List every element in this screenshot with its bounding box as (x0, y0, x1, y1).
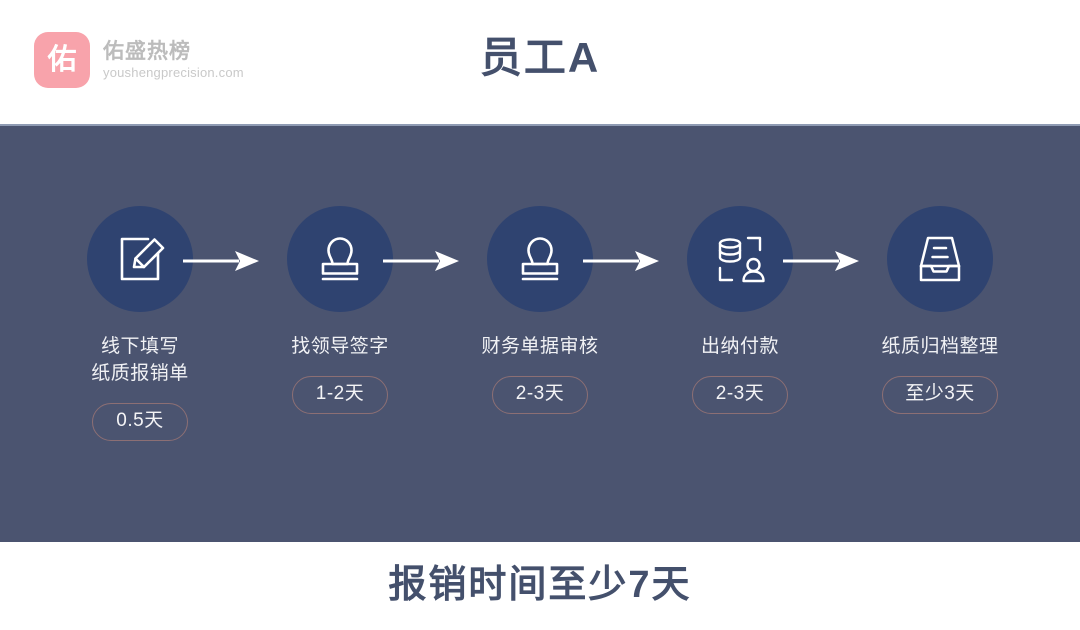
process-steps-row: 线下填写 纸质报销单 0.5天 (0, 126, 1080, 544)
summary-text: 报销时间至少7天 (388, 563, 691, 609)
flow-step-3: 财务单据审核 2-3天 (440, 206, 640, 414)
flow-step-4-duration-badge: 2-3天 (692, 376, 788, 414)
flow-step-3-duration-badge: 2-3天 (492, 376, 588, 414)
flow-step-1: 线下填写 纸质报销单 0.5天 (40, 206, 240, 441)
page-header: 佑 佑盛热榜 youshengprecision.com 员工A (0, 0, 1080, 124)
page-footer: 报销时间至少7天 (0, 542, 1080, 630)
process-flow-panel: 线下填写 纸质报销单 0.5天 (0, 124, 1080, 542)
flow-step-2: 找领导签字 1-2天 (240, 206, 440, 414)
flow-step-1-duration-badge: 0.5天 (92, 403, 188, 441)
cash-payment-person-icon (713, 232, 767, 286)
flow-step-1-label: 线下填写 纸质报销单 (91, 334, 189, 388)
flow-step-5-duration-badge: 至少3天 (882, 376, 998, 414)
flow-step-2-label: 找领导签字 (291, 334, 389, 361)
archive-tray-icon (913, 232, 967, 286)
flow-step-4-icon-circle (687, 206, 793, 312)
flow-step-1-icon-circle (87, 206, 193, 312)
flow-step-4: 出纳付款 2-3天 (640, 206, 840, 414)
flow-step-2-icon-circle (287, 206, 393, 312)
flow-step-3-label: 财务单据审核 (481, 334, 598, 361)
stamp-icon (314, 233, 366, 285)
stamp-icon (514, 233, 566, 285)
flow-step-4-label: 出纳付款 (701, 334, 779, 361)
flow-step-5-label: 纸质归档整理 (881, 334, 998, 361)
flow-step-5-icon-circle (887, 206, 993, 312)
flow-step-5: 纸质归档整理 至少3天 (840, 206, 1040, 414)
page-title: 员工A (0, 33, 1080, 83)
flow-step-2-duration-badge: 1-2天 (292, 376, 388, 414)
document-pencil-icon (113, 232, 167, 286)
flow-step-3-icon-circle (487, 206, 593, 312)
